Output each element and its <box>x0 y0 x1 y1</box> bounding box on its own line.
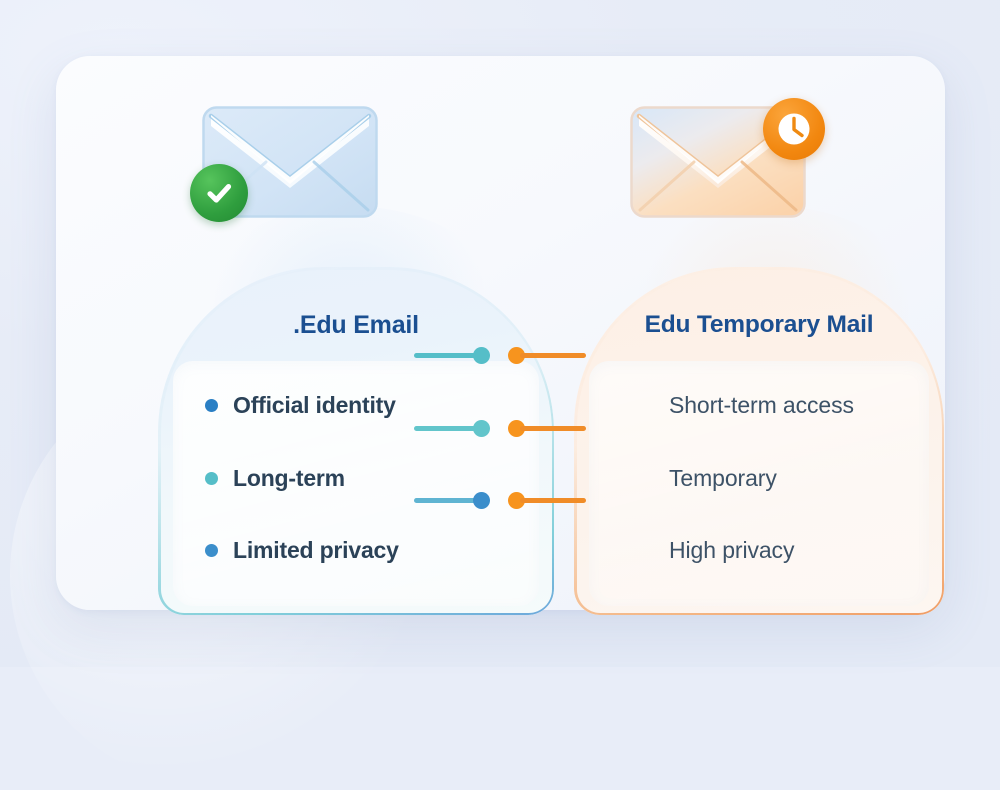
list-item[interactable]: Long-term <box>205 461 345 495</box>
right-feature-card: Short-term access Temporary High privacy <box>589 361 929 606</box>
list-item[interactable]: Temporary <box>669 461 777 495</box>
bullet-icon <box>205 544 218 557</box>
panel-title-right: Edu Temporary Mail <box>574 311 944 339</box>
feature-label: Long-term <box>233 465 345 492</box>
envelope-check-icon <box>202 106 378 218</box>
bullet-icon <box>205 399 218 412</box>
left-feature-list: Official identity Long-term Limited priv… <box>173 361 539 606</box>
envelope-clock-icon <box>630 106 806 218</box>
clock-face-icon <box>772 107 816 151</box>
check-circle-icon <box>190 164 248 222</box>
comparison-infographic: .Edu Email Official identity Long-term L… <box>0 0 1000 667</box>
check-mark-icon <box>203 177 235 209</box>
list-item[interactable]: Limited privacy <box>205 533 399 567</box>
feature-label: Limited privacy <box>233 537 399 564</box>
feature-label: Temporary <box>669 465 777 492</box>
panel-edu-temporary-mail[interactable]: Edu Temporary Mail Short-term access Tem… <box>574 267 944 615</box>
panel-title-left: .Edu Email <box>158 311 554 340</box>
list-item[interactable]: Short-term access <box>669 388 854 422</box>
feature-label: Short-term access <box>669 392 854 419</box>
left-feature-card: Official identity Long-term Limited priv… <box>173 361 539 606</box>
feature-label: High privacy <box>669 537 794 564</box>
feature-label: Official identity <box>233 392 396 419</box>
list-item[interactable]: High privacy <box>669 533 794 567</box>
panel-edu-email[interactable]: .Edu Email Official identity Long-term L… <box>158 267 554 615</box>
list-item[interactable]: Official identity <box>205 388 396 422</box>
clock-circle-icon <box>763 98 825 160</box>
bullet-icon <box>205 472 218 485</box>
right-feature-list: Short-term access Temporary High privacy <box>589 361 929 606</box>
